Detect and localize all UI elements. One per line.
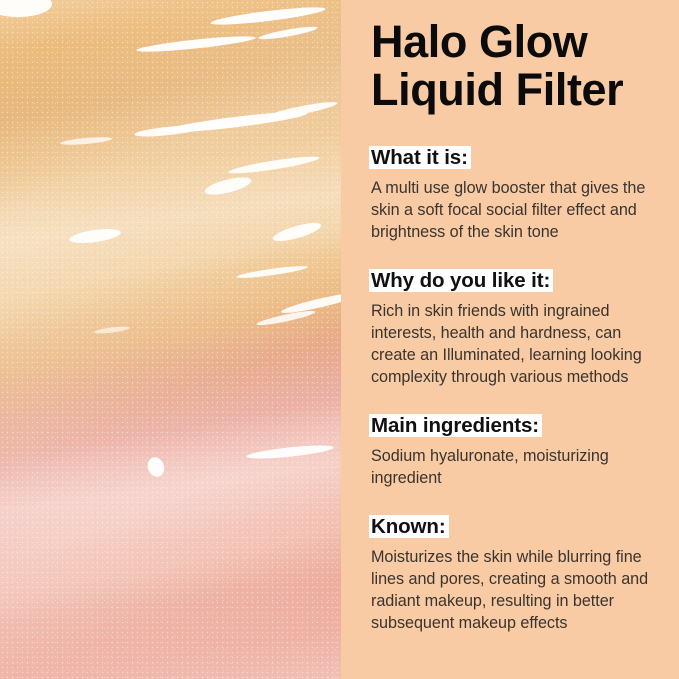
- product-swatch-image: [0, 0, 341, 679]
- section-body: A multi use glow booster that gives the …: [371, 178, 653, 244]
- product-infographic: Halo Glow Liquid Filter What it is: A mu…: [0, 0, 679, 679]
- swatch-white-streaks: [0, 0, 341, 679]
- section-why-do-you-like-it: Why do you like it: Rich in skin friends…: [371, 266, 653, 389]
- section-main-ingredients: Main ingredients: Sodium hyaluronate, mo…: [371, 411, 653, 490]
- section-body: Moisturizes the skin while blurring fine…: [371, 547, 653, 635]
- section-heading: What it is:: [371, 146, 468, 169]
- page-title: Halo Glow Liquid Filter: [371, 18, 653, 113]
- section-heading: Why do you like it:: [371, 269, 550, 292]
- title-line-2: Liquid Filter: [371, 66, 653, 114]
- section-body: Rich in skin friends with ingrained inte…: [371, 301, 653, 389]
- product-text-panel: Halo Glow Liquid Filter What it is: A mu…: [341, 0, 679, 679]
- section-body: Sodium hyaluronate, moisturizing ingredi…: [371, 446, 653, 490]
- section-known: Known: Moisturizes the skin while blurri…: [371, 512, 653, 635]
- section-what-it-is: What it is: A multi use glow booster tha…: [371, 143, 653, 244]
- section-heading: Main ingredients:: [371, 414, 539, 437]
- title-line-1: Halo Glow: [371, 18, 653, 66]
- section-heading: Known:: [371, 515, 446, 538]
